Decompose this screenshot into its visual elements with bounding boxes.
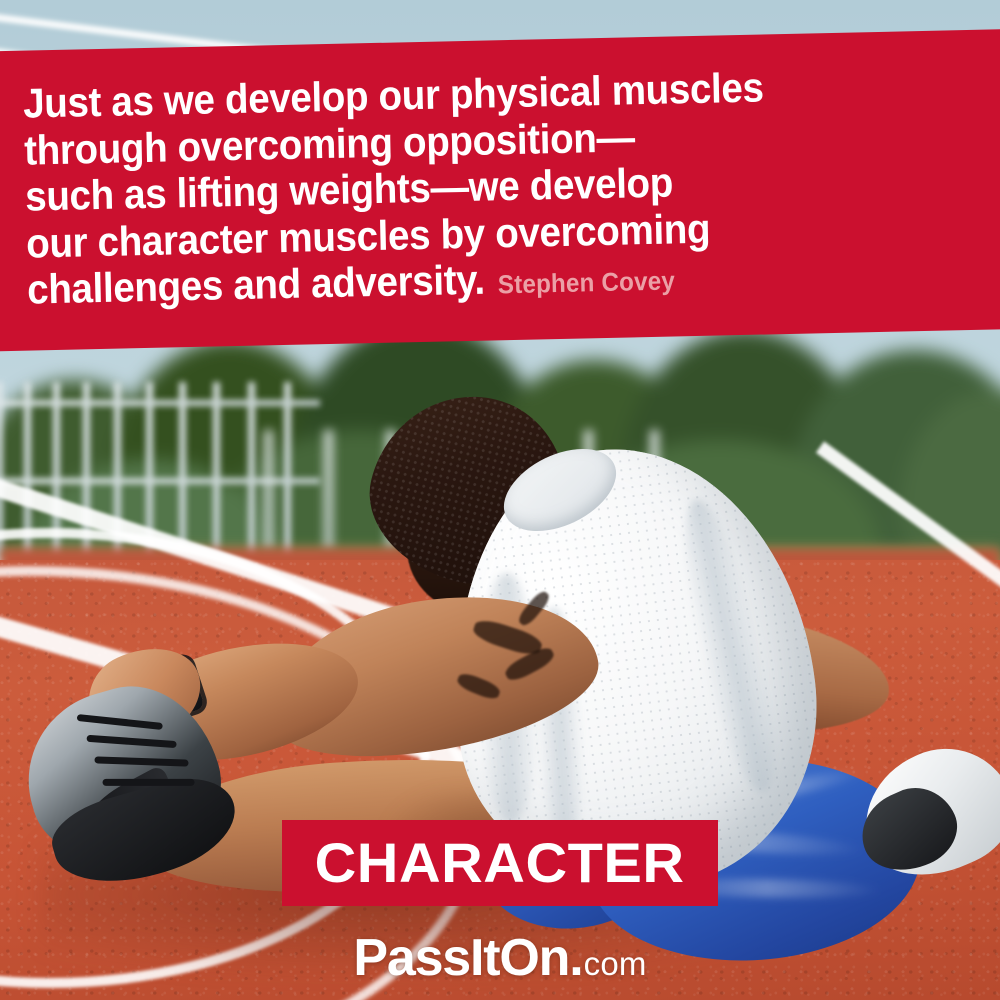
logo-tld: com [584, 945, 647, 982]
logo-wordmark: PassItOn [353, 929, 569, 987]
quote-block: Just as we develop our physical muscles … [23, 59, 1000, 313]
quote-banner: Just as we develop our physical muscles … [0, 28, 1000, 352]
quote-attribution: Stephen Covey [498, 265, 676, 300]
character-badge-label: CHARACTER [315, 835, 685, 891]
quote-line-5: challenges and adversity. [27, 257, 486, 313]
passiton-logo[interactable]: PassItOn.com [0, 928, 1000, 988]
logo-dot: . [569, 929, 583, 987]
character-badge: CHARACTER [282, 820, 718, 906]
quote-poster: Just as we develop our physical muscles … [0, 0, 1000, 1000]
